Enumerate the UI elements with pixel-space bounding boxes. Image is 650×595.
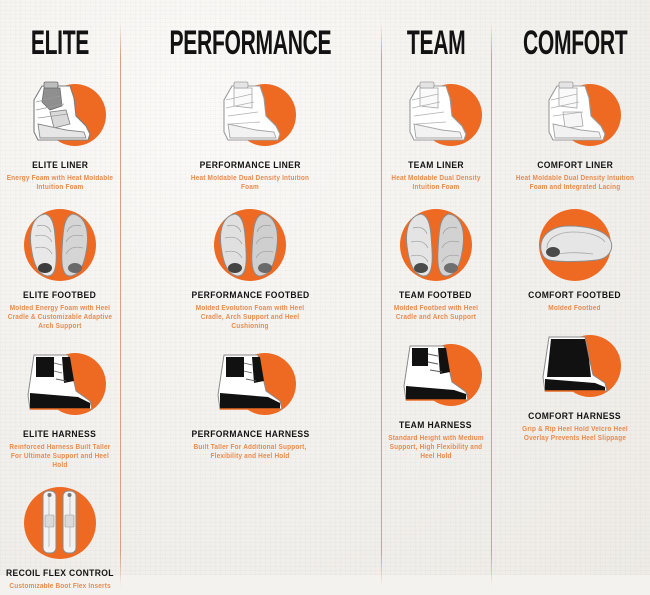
column-header-comfort: COMFORT xyxy=(523,26,627,60)
column-header-team: TEAM xyxy=(406,26,464,60)
product-title: ELITE LINER xyxy=(32,160,88,171)
cell-team-liner[interactable]: TEAM LINER Heat Moldable Dual Density In… xyxy=(381,76,491,192)
product-description: Energy Foam with Heat Moldable Intuition… xyxy=(5,174,115,192)
cell-elite-footbed[interactable]: ELITE FOOTBED Molded Energy Foam with He… xyxy=(0,206,120,331)
snowboard-boot-liner-icon xyxy=(20,80,100,150)
performance-footbed-art xyxy=(195,206,305,284)
column-elite: ELITE ELITE LINER Energy Foam with Heat … xyxy=(0,0,120,595)
product-description: Reinforced Harness Built Taller For Ulti… xyxy=(5,443,115,470)
elite-footbed-art xyxy=(5,206,115,284)
comfort-footbed-art xyxy=(520,206,630,284)
product-title: PERFORMANCE LINER xyxy=(200,160,301,171)
cell-team-harness[interactable]: TEAM HARNESS Standard Height with Medium… xyxy=(381,336,491,461)
snowboard-boot-harness-icon xyxy=(394,342,478,408)
product-title: TEAM HARNESS xyxy=(399,420,472,431)
recoil-flex-art xyxy=(5,484,115,562)
comfort-harness-art xyxy=(520,327,630,405)
cell-elite-harness[interactable]: ELITE HARNESS Reinforced Harness Built T… xyxy=(0,345,120,470)
column-header-elite: ELITE xyxy=(31,26,89,60)
column-performance: PERFORMANCE PERFORMANCE LINER Heat Molda… xyxy=(120,0,381,595)
snowboard-boot-harness-icon xyxy=(208,351,292,417)
team-footbed-art xyxy=(381,206,491,284)
product-description: Built Taller For Additional Support, Fle… xyxy=(190,443,311,461)
footbed-insole-icon xyxy=(531,214,619,276)
footbed-insole-icon xyxy=(393,210,479,280)
snowboard-boot-liner-icon xyxy=(535,80,615,150)
cell-performance-harness[interactable]: PERFORMANCE HARNESS Built Taller For Add… xyxy=(120,345,381,461)
footbed-insole-icon xyxy=(17,210,103,280)
product-title: TEAM FOOTBED xyxy=(399,290,472,301)
elite-harness-art xyxy=(5,345,115,423)
column-team: TEAM TEAM LINER Heat Moldable Dual Densi… xyxy=(381,0,491,595)
product-title: COMFORT FOOTBED xyxy=(528,290,621,301)
snowboard-boot-liner-icon xyxy=(210,80,290,150)
performance-harness-art xyxy=(195,345,305,423)
snowboard-boot-harness-icon xyxy=(18,351,102,417)
product-title: ELITE FOOTBED xyxy=(23,290,96,301)
snowboard-boot-liner-icon xyxy=(396,80,476,150)
product-title: COMFORT HARNESS xyxy=(528,411,621,422)
footbed-insole-icon xyxy=(207,210,293,280)
flex-insert-icon xyxy=(25,487,95,559)
team-harness-art xyxy=(381,336,491,414)
product-title: COMFORT LINER xyxy=(537,160,613,171)
product-title: ELITE HARNESS xyxy=(23,429,96,440)
product-description: Standard Height with Medium Support, Hig… xyxy=(385,434,486,461)
performance-liner-art xyxy=(195,76,305,154)
product-description: Heat Moldable Dual Density Intuition Foa… xyxy=(514,174,635,192)
product-title: PERFORMANCE HARNESS xyxy=(191,429,309,440)
cell-performance-footbed[interactable]: PERFORMANCE FOOTBED Molded Evolution Foa… xyxy=(120,206,381,331)
cell-comfort-harness[interactable]: COMFORT HARNESS Grip & Rip Heel Hold Vel… xyxy=(491,327,650,443)
elite-liner-art xyxy=(5,76,115,154)
comparison-grid: ELITE ELITE LINER Energy Foam with Heat … xyxy=(0,0,650,575)
product-description: Molded Evolution Foam with Heel Cradle, … xyxy=(190,304,311,331)
product-description: Molded Footbed xyxy=(549,304,601,313)
cell-team-footbed[interactable]: TEAM FOOTBED Molded Footbed with Heel Cr… xyxy=(381,206,491,322)
column-header-performance: PERFORMANCE xyxy=(169,26,331,60)
product-description: Molded Energy Foam with Heel Cradle & Cu… xyxy=(5,304,115,331)
product-title: RECOIL FLEX CONTROL xyxy=(6,568,114,579)
team-liner-art xyxy=(381,76,491,154)
column-comfort: COMFORT COMFORT LINER Heat Moldable Dual… xyxy=(491,0,650,595)
product-description: Heat Moldable Dual Density Intuition Foa… xyxy=(190,174,311,192)
cell-comfort-footbed[interactable]: COMFORT FOOTBED Molded Footbed xyxy=(491,206,650,313)
comfort-liner-art xyxy=(520,76,630,154)
product-description: Heat Moldable Dual Density Intuition Foa… xyxy=(385,174,486,192)
cell-comfort-liner[interactable]: COMFORT LINER Heat Moldable Dual Density… xyxy=(491,76,650,192)
cell-performance-liner[interactable]: PERFORMANCE LINER Heat Moldable Dual Den… xyxy=(120,76,381,192)
product-description: Customizable Boot Flex Inserts xyxy=(9,582,110,591)
snowboard-boot-harness-icon xyxy=(533,333,617,399)
product-description: Molded Footbed with Heel Cradle and Arch… xyxy=(385,304,486,322)
product-description: Grip & Rip Heel Hold Velcro Heel Overlay… xyxy=(514,425,635,443)
product-title: TEAM LINER xyxy=(408,160,464,171)
product-title: PERFORMANCE FOOTBED xyxy=(191,290,309,301)
cell-elite-liner[interactable]: ELITE LINER Energy Foam with Heat Moldab… xyxy=(0,76,120,192)
